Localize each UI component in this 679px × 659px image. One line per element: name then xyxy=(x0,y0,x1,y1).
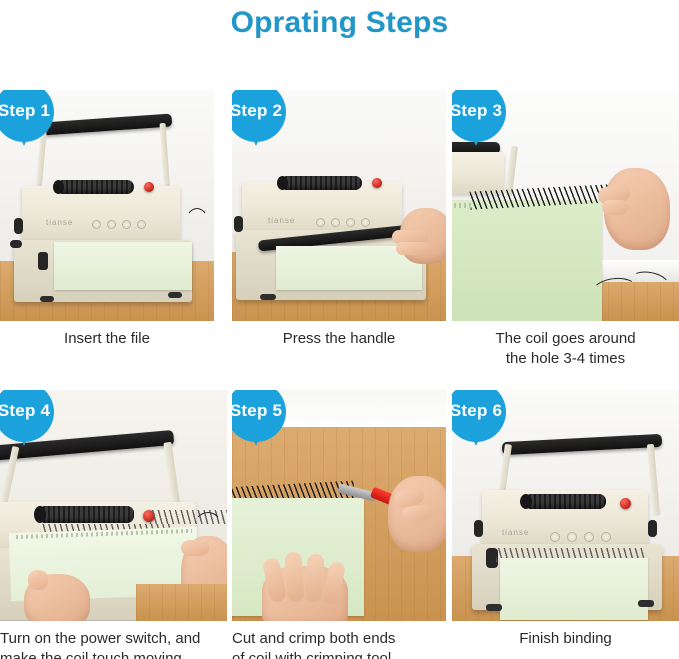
step-badge-4: Step 4 xyxy=(0,390,58,446)
step-caption-2: Press the handle xyxy=(232,321,446,349)
step-badge-label-6: Step 6 xyxy=(452,390,506,440)
step-caption-5-line2: of coil with crimping tool xyxy=(232,649,446,659)
brand-logo: tianse xyxy=(46,218,73,227)
step-image-4: Step 4 xyxy=(0,390,227,621)
power-button xyxy=(144,182,154,192)
step-card-6: tianse Step 6 xyxy=(452,390,679,649)
step-caption-4: Turn on the power switch, and make the c… xyxy=(0,621,227,659)
step-card-4: Step 4 Turn on the power switch, and mak… xyxy=(0,390,227,659)
step-badge-1: Step 1 xyxy=(0,90,58,146)
inserted-paper xyxy=(54,242,192,290)
bound-document xyxy=(452,200,602,321)
step-badge-label-2: Step 2 xyxy=(232,90,286,140)
step-badge-label-3: Step 3 xyxy=(452,90,506,140)
brand-logo: tianse xyxy=(502,528,529,537)
step-badge-2: Step 2 xyxy=(232,90,290,146)
step-caption-6: Finish binding xyxy=(452,621,679,649)
binding-roller xyxy=(524,494,606,509)
power-button xyxy=(372,178,382,188)
step-image-1: tianse Step 1 xyxy=(0,90,214,321)
binding-roller xyxy=(280,176,362,190)
binding-roller xyxy=(38,506,134,523)
power-button xyxy=(620,498,631,509)
step-caption-5-line1: Cut and crimp both ends xyxy=(232,629,446,649)
step-card-3: Step 3 The coil goes around the hole 3-4… xyxy=(452,90,679,369)
step-badge-3: Step 3 xyxy=(452,90,510,146)
step-card-1: tianse Step 1 xyxy=(0,90,214,349)
finished-document xyxy=(500,558,648,620)
step-image-3: Step 3 xyxy=(452,90,679,321)
step-badge-5: Step 5 xyxy=(232,390,290,446)
step-caption-4-line1: Turn on the power switch, and xyxy=(0,629,227,649)
step-caption-3-line2: the hole 3-4 times xyxy=(452,349,679,369)
page-title: Oprating Steps xyxy=(0,0,679,42)
brand-logo: tianse xyxy=(268,216,295,225)
step-badge-label-4: Step 4 xyxy=(0,390,54,440)
operating-steps-infographic: Oprating Steps xyxy=(0,0,679,659)
step-caption-4-line2: make the coil touch moving xyxy=(0,649,227,659)
step-image-6: tianse Step 6 xyxy=(452,390,679,621)
step-badge-label-1: Step 1 xyxy=(0,90,54,140)
step-badge-6: Step 6 xyxy=(452,390,510,446)
step-badge-label-5: Step 5 xyxy=(232,390,286,440)
binding-roller xyxy=(56,180,134,194)
step-caption-3-line1: The coil goes around xyxy=(452,329,679,349)
step-image-2: tianse xyxy=(232,90,446,321)
step-caption-1: Insert the file xyxy=(0,321,214,349)
step-caption-5: Cut and crimp both ends of coil with cri… xyxy=(232,621,446,659)
machine-body xyxy=(22,186,180,244)
step-image-5: Step 5 xyxy=(232,390,446,621)
step-card-5: Step 5 Cut and crimp both ends of coil w… xyxy=(232,390,446,659)
step-card-2: tianse xyxy=(232,90,446,349)
step-caption-3: The coil goes around the hole 3-4 times xyxy=(452,321,679,369)
